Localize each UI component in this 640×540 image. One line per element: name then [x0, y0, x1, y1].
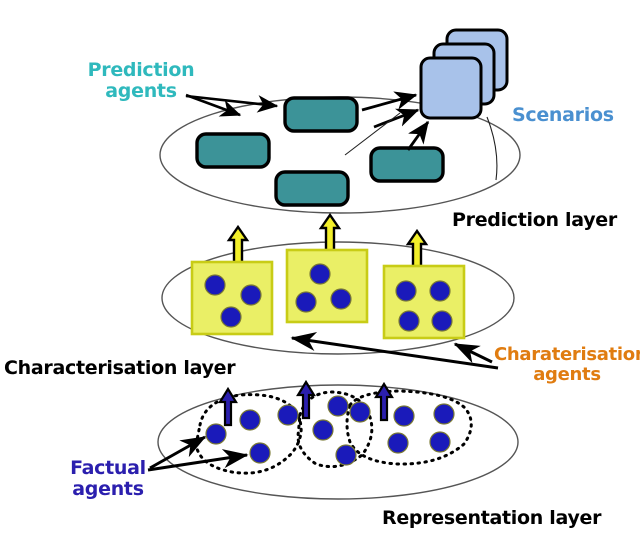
dot — [278, 405, 298, 425]
scenario-arrow-3 — [408, 122, 428, 150]
dot — [331, 289, 351, 309]
prediction-layer-label: Prediction layer — [452, 210, 617, 231]
scenario-arrow-2 — [374, 110, 418, 127]
characterisation-up-arrow-3 — [408, 231, 426, 270]
dot — [328, 396, 348, 416]
scenarios-label: Scenarios — [512, 105, 614, 126]
charaterisation-agents-pointer-arrows — [292, 338, 498, 368]
factual-agents-label: Factual agents — [56, 458, 160, 501]
characterisation-box-1[interactable] — [192, 262, 272, 334]
dot — [250, 443, 270, 463]
dot — [434, 404, 454, 424]
dot — [388, 433, 408, 453]
prediction-agent-box-1[interactable] — [197, 134, 269, 167]
dot — [296, 292, 316, 312]
representation-up-arrow-3 — [376, 384, 392, 420]
charaterisation-agents-arrow-1 — [292, 338, 498, 368]
diagram-canvas: Prediction agents Scenarios Prediction l… — [0, 0, 640, 540]
characterisation-up-arrow-2 — [321, 215, 339, 254]
dot — [221, 307, 241, 327]
prediction-agent-box-4[interactable] — [371, 148, 443, 181]
characterisation-box-rect-2 — [287, 250, 367, 322]
scenario-card-stack[interactable] — [421, 30, 507, 118]
dot — [313, 420, 333, 440]
dot — [350, 402, 370, 422]
dot — [205, 275, 225, 295]
factual-agents-arrow-2 — [148, 455, 247, 470]
dot — [241, 285, 261, 305]
charaterisation-agents-arrow-2 — [455, 344, 492, 362]
dot — [396, 281, 416, 301]
prediction-agents-label: Prediction agents — [76, 60, 206, 103]
characterisation-layer-group — [162, 215, 514, 368]
dot — [206, 424, 226, 444]
dot — [336, 445, 356, 465]
dot — [394, 406, 414, 426]
charaterisation-agents-label: Charaterisation agents — [494, 345, 640, 385]
scenario-card-front — [421, 58, 481, 118]
prediction-agent-box-3[interactable] — [276, 172, 348, 205]
prediction-agent-box-2[interactable] — [285, 98, 357, 131]
dot — [430, 281, 450, 301]
characterisation-up-arrow-1 — [229, 227, 247, 266]
representation-layer-group — [148, 382, 518, 499]
factual-group-outline-3 — [347, 391, 471, 464]
dot — [399, 311, 419, 331]
prediction-layer-group — [160, 30, 520, 213]
dot — [240, 410, 260, 430]
dot — [310, 264, 330, 284]
factual-agents-pointer-arrows — [148, 437, 247, 470]
representation-up-arrow-1 — [220, 389, 236, 425]
dot — [430, 432, 450, 452]
characterisation-box-2[interactable] — [287, 250, 367, 322]
dot — [432, 311, 452, 331]
representation-layer-label: Representation layer — [382, 508, 601, 529]
characterisation-box-3[interactable] — [384, 266, 464, 338]
characterisation-box-rect-3 — [384, 266, 464, 338]
characterisation-layer-label: Characterisation layer — [4, 358, 235, 379]
